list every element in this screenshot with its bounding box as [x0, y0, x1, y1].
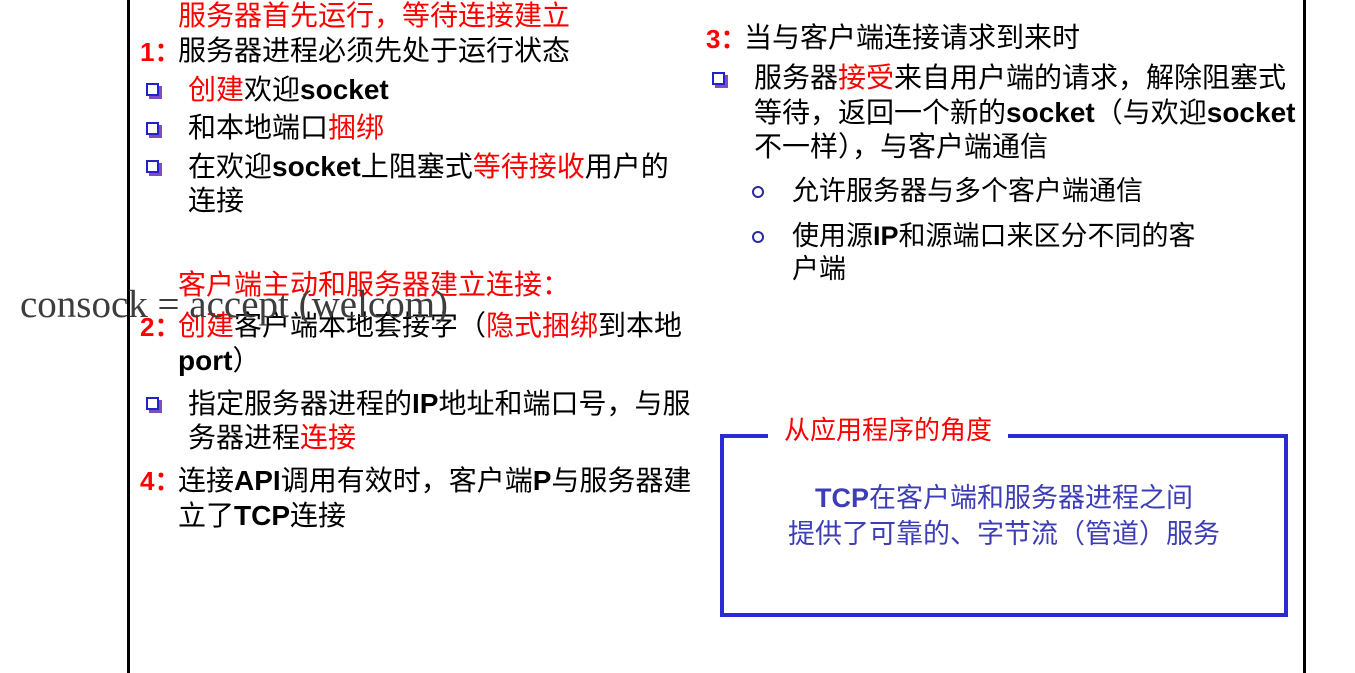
right-bullet-1-part-7: 不一样），与客户端通信	[754, 132, 1048, 163]
left-bullet-2-part-2: 捆绑	[328, 113, 384, 144]
left-bullet-1-part-3: socket	[300, 74, 389, 105]
left-step-4-part-2: API	[234, 465, 281, 496]
right-content-column: 3： 当与客户端连接请求到来时 服务器接受来自用户端的请求，解除阻塞式等待，返回…	[706, 20, 1296, 286]
left-step-4: 4： 连接API调用有效时，客户端P与服务器建立了TCP连接	[140, 464, 696, 534]
left-bullet-3-part-3: 上阻塞式	[361, 152, 473, 183]
left-step-1-text: 服务器进程必须先处于运行状态	[178, 36, 570, 67]
left-bullet-4-part-2: IP	[412, 388, 438, 419]
right-sub-bullet-source-ip: 使用源IP和源端口来区分不同的客户端	[744, 220, 1212, 286]
tcp-summary-line-2: 提供了可靠的、字节流（管道）服务	[724, 516, 1284, 552]
left-step-1-label: 1：	[140, 35, 180, 69]
left-step-1: 1： 服务器进程必须先处于运行状态	[140, 35, 696, 69]
left-step-2-part-4: 到本地	[598, 311, 682, 342]
right-bullet-1-part-4: socket	[1006, 97, 1095, 128]
left-step-4-part-4: P	[533, 465, 552, 496]
left-bullet-specify-ip: 指定服务器进程的IP地址和端口号，与服务器进程连接	[140, 387, 696, 456]
left-bullet-2-part-1: 和本地端口	[188, 113, 328, 144]
right-bullet-1-part-1: 服务器	[754, 63, 838, 94]
tcp-summary-line-1-latin: TCP	[815, 483, 869, 513]
left-step-2-part-6: ）	[232, 346, 260, 377]
right-vertical-divider	[1303, 0, 1306, 673]
right-step-3: 3： 当与客户端连接请求到来时	[706, 22, 1296, 56]
right-bullet-1-part-6: socket	[1207, 97, 1296, 128]
square-bullet-icon	[146, 83, 159, 96]
left-step-4-part-3: 调用有效时，客户端	[281, 466, 533, 497]
right-sub-bullet-multi-client: 允许服务器与多个客户端通信	[744, 175, 1192, 208]
left-bullet-4-part-4: 连接	[300, 423, 356, 454]
circle-bullet-icon	[752, 186, 764, 198]
left-bullet-bind-port: 和本地端口捆绑	[140, 112, 696, 146]
square-bullet-icon	[146, 397, 159, 410]
right-sub-bullet-1-text: 允许服务器与多个客户端通信	[792, 176, 1143, 206]
tcp-summary-line-1-rest: 在客户端和服务器进程之间	[869, 483, 1193, 513]
square-bullet-icon	[146, 122, 159, 135]
left-step-2-part-5: port	[178, 345, 232, 376]
square-bullet-icon	[712, 72, 725, 85]
left-step-2-part-3: 隐式捆绑	[486, 311, 598, 342]
left-content-column: 服务器首先运行，等待连接建立 1： 服务器进程必须先处于运行状态 创建欢迎soc…	[140, 0, 696, 534]
right-bullet-1-part-5: （与欢迎	[1095, 98, 1207, 129]
left-heading: 服务器首先运行，等待连接建立	[140, 0, 696, 33]
right-bullet-1-part-2: 接受	[838, 63, 894, 94]
circle-bullet-icon	[752, 231, 764, 243]
left-bullet-1-part-1: 创建	[188, 75, 244, 106]
left-step-4-part-1: 连接	[178, 466, 234, 497]
left-step-4-label: 4：	[140, 464, 180, 498]
left-bullet-3-part-4: 等待接收	[473, 152, 585, 183]
left-step-4-part-6: TCP	[234, 500, 290, 531]
left-vertical-divider	[127, 0, 130, 673]
right-sub-bullet-2-part-2: IP	[873, 221, 899, 251]
left-step-4-part-7: 连接	[290, 501, 346, 532]
tcp-summary-line-1: TCP在客户端和服务器进程之间	[724, 480, 1284, 516]
left-bullet-4-part-1: 指定服务器进程的	[188, 389, 412, 420]
left-bullet-1-part-2: 欢迎	[244, 75, 300, 106]
left-bullet-3-part-2: socket	[272, 151, 361, 182]
right-step-3-label: 3：	[706, 22, 746, 56]
code-line-accept: consock = accept (welcom)	[20, 283, 448, 327]
tcp-summary-box: 从应用程序的角度 TCP在客户端和服务器进程之间 提供了可靠的、字节流（管道）服…	[720, 434, 1288, 617]
tcp-summary-box-legend: 从应用程序的角度	[768, 416, 1008, 446]
right-sub-bullet-2-part-1: 使用源	[792, 221, 873, 251]
square-bullet-icon	[146, 160, 159, 173]
left-bullet-create-socket: 创建欢迎socket	[140, 73, 696, 108]
left-bullet-blocking-accept: 在欢迎socket上阻塞式等待接收用户的连接	[140, 150, 696, 219]
right-bullet-accept: 服务器接受来自用户端的请求，解除阻塞式等待，返回一个新的socket（与欢迎so…	[706, 62, 1296, 165]
tcp-summary-box-body: TCP在客户端和服务器进程之间 提供了可靠的、字节流（管道）服务	[724, 480, 1284, 552]
right-step-3-text: 当与客户端连接请求到来时	[744, 23, 1080, 54]
left-bullet-3-part-1: 在欢迎	[188, 152, 272, 183]
